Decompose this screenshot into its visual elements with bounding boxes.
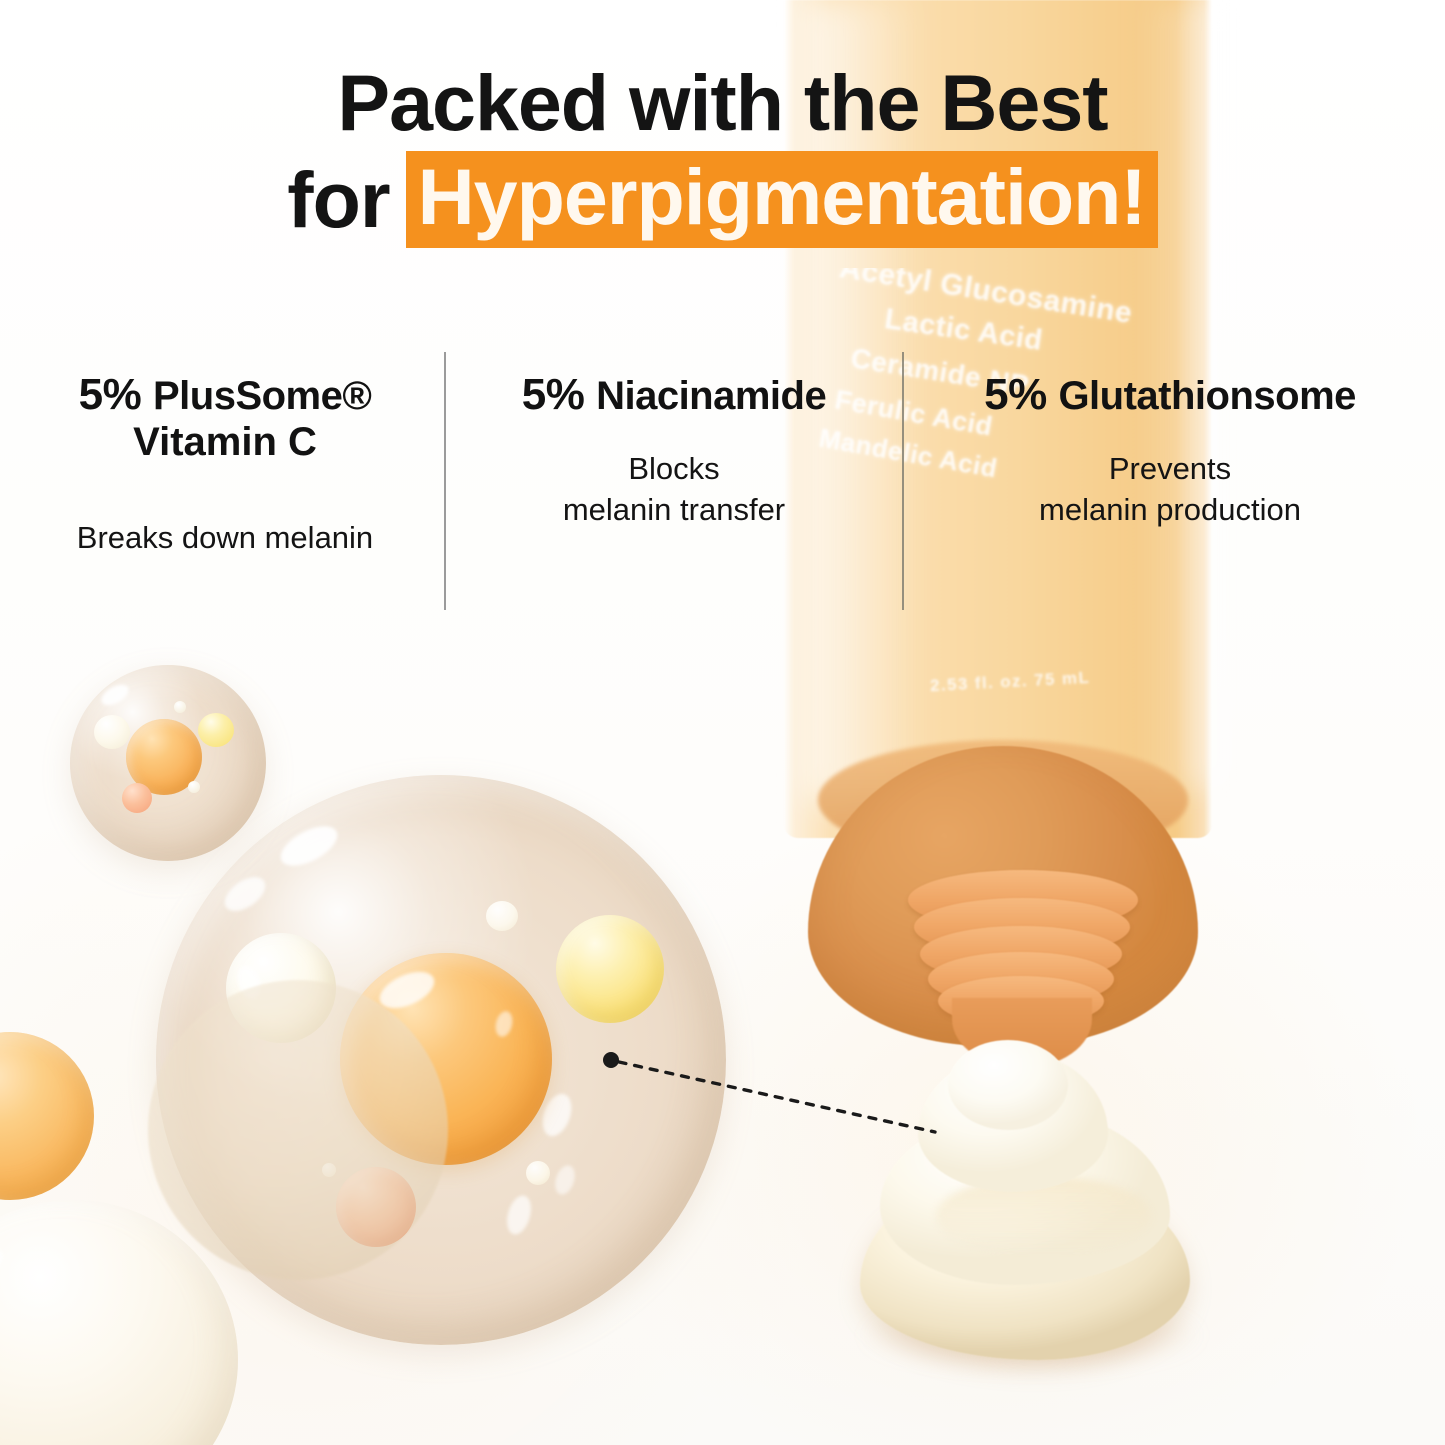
liposome-bubble-small <box>70 665 266 861</box>
headline-line-2: for Hyperpigmentation! <box>0 151 1445 248</box>
ingredient-benefit-2-line1: Blocks <box>452 449 896 490</box>
ingredient-column-vitamin-c: 5% PlusSome® Vitamin C Breaks down melan… <box>10 370 440 559</box>
ingredient-benefit-3-line2: melanin production <box>910 490 1430 531</box>
ingredient-benefit-3: Prevents melanin production <box>910 449 1430 531</box>
bubble-droplet-1 <box>486 901 518 931</box>
bubble-sphere-yellow <box>556 915 664 1023</box>
partial-bubble-orange-highlight <box>0 1049 1 1089</box>
small-bubble-droplet-1 <box>174 701 186 713</box>
headline: Packed with the Best for Hyperpigmentati… <box>0 60 1445 248</box>
ingredient-name-1: PlusSome® <box>153 374 371 418</box>
ingredient-percent-1: 5% <box>79 370 142 419</box>
ingredient-name-2: Niacinamide <box>596 374 826 418</box>
ingredient-benefit-2-line2: melanin transfer <box>452 490 896 531</box>
ingredient-column-niacinamide: 5% Niacinamide Blocks melanin transfer <box>452 370 896 531</box>
headline-prefix: for <box>287 157 405 242</box>
ingredient-benefit-2: Blocks melanin transfer <box>452 449 896 531</box>
column-divider-2 <box>902 352 904 610</box>
headline-highlight: Hyperpigmentation! <box>406 151 1158 248</box>
ingredient-column-glutathionsome: 5% Glutathionsome Prevents melanin produ… <box>910 370 1430 531</box>
ingredient-benefit-3-line1: Prevents <box>910 449 1430 490</box>
ingredient-benefit-1: Breaks down melanin <box>10 518 440 559</box>
column-divider-1 <box>444 352 446 610</box>
bubble-highlight-e <box>552 1163 578 1197</box>
bubble-core-highlight-2 <box>493 1009 515 1038</box>
cream-tip <box>948 1040 1068 1130</box>
partial-bubble-cream-highlight <box>0 1242 9 1293</box>
ingredient-percent-3: 5% <box>984 370 1047 419</box>
small-bubble-yellow <box>198 713 234 747</box>
ingredient-title-3: 5% Glutathionsome <box>910 370 1430 419</box>
product-infographic: Acetyl Glucosamine Lactic Acid Ceramide … <box>0 0 1445 1445</box>
headline-line-1: Packed with the Best <box>0 60 1445 145</box>
bubble-highlight-a <box>275 818 344 874</box>
ingredient-name-3: Glutathionsome <box>1058 374 1355 418</box>
bubble-highlight-d <box>503 1193 535 1238</box>
small-bubble-droplet-2 <box>188 781 200 793</box>
ingredient-percent-2: 5% <box>522 370 585 419</box>
partial-bubble-tan <box>148 980 448 1280</box>
small-bubble-cream <box>94 715 130 749</box>
bubble-droplet-2 <box>526 1161 550 1185</box>
ingredient-name-1-line2: Vitamin C <box>10 419 440 466</box>
ingredient-title-2: 5% Niacinamide <box>452 370 896 419</box>
small-bubble-peach <box>122 783 152 813</box>
ingredient-title-1: 5% PlusSome® <box>10 370 440 419</box>
bubble-highlight-b <box>219 870 272 918</box>
